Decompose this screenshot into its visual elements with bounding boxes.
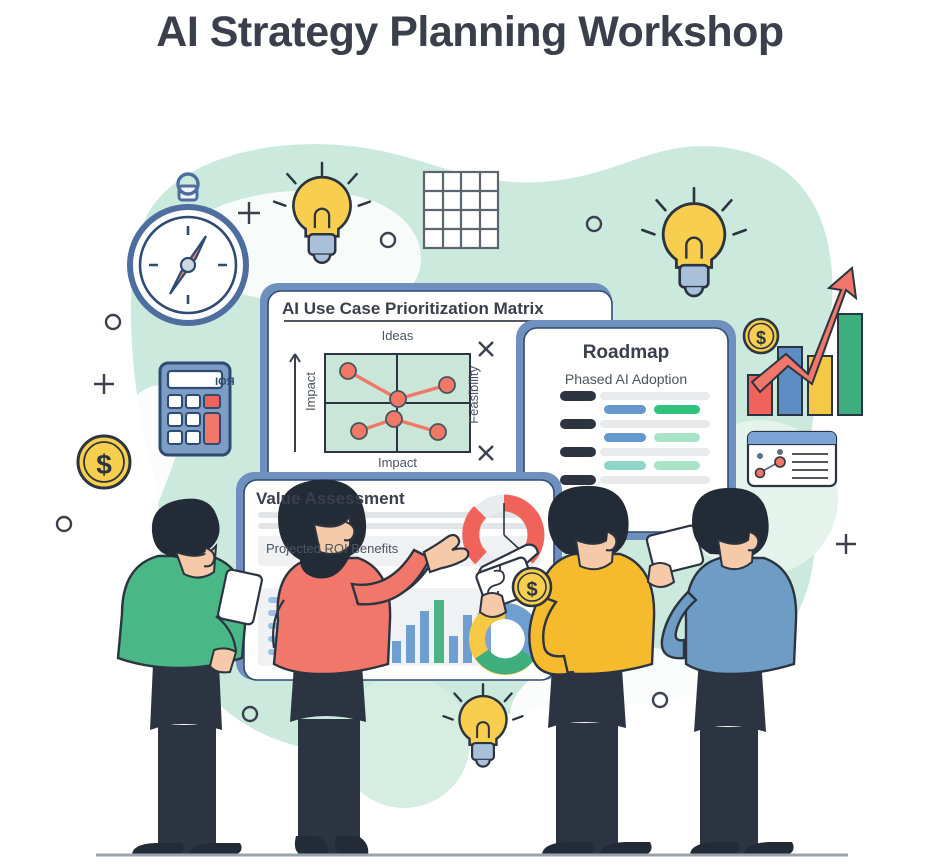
svg-text:$: $ xyxy=(756,328,766,348)
illustration-stage: AI Strategy Planning Workshop xyxy=(0,0,940,866)
circle-mark xyxy=(57,517,71,531)
roadmap-card-title: Roadmap xyxy=(524,342,728,364)
matrix-card-title: AI Use Case Prioritization Matrix xyxy=(282,299,592,319)
matrix-right-label: Feasibility xyxy=(466,366,481,424)
plus-mark xyxy=(836,534,856,554)
matrix-top-label: Ideas xyxy=(325,328,470,343)
matrix-bottom-label: Impact xyxy=(325,455,470,470)
mini-window-icon xyxy=(748,432,836,486)
calculator-icon: ROI xyxy=(160,363,235,455)
workshop-illustration: ROI xyxy=(0,0,940,866)
calculator-display: ROI xyxy=(215,376,235,388)
plus-mark xyxy=(94,374,114,394)
value-card-title: Value Assessment xyxy=(256,489,546,509)
value-card-subtitle: Projected ROI Benefits xyxy=(266,541,526,556)
svg-text:$: $ xyxy=(96,449,112,480)
circle-mark xyxy=(106,315,120,329)
svg-text:$: $ xyxy=(526,579,537,601)
dollar-coin-icon: $ xyxy=(78,436,130,488)
roadmap-card-subtitle: Phased AI Adoption xyxy=(524,371,728,387)
dollar-coin-icon: $ xyxy=(744,319,778,353)
dollar-coin-icon: $ xyxy=(513,568,551,606)
matrix-left-label: Impact xyxy=(303,372,318,411)
grid-icon xyxy=(424,172,498,248)
